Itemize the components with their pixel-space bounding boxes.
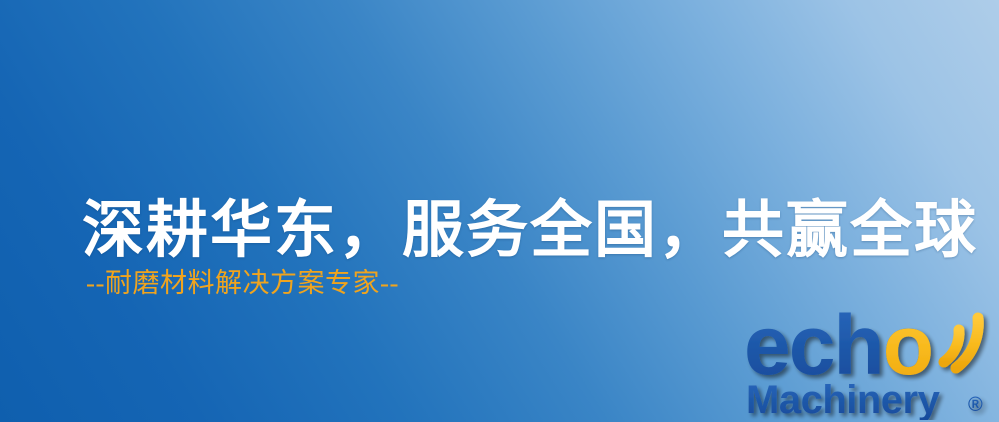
banner-subtitle: --耐磨材料解决方案专家-- xyxy=(86,267,399,299)
banner-headline: 深耕华东，服务全国，共赢全球 xyxy=(82,194,962,268)
hero-banner: 深耕华东，服务全国，共赢全球 --耐磨材料解决方案专家-- xyxy=(0,0,999,422)
echo-machinery-logo[interactable]: echo echo Machinery ® xyxy=(744,296,996,420)
registered-trademark-icon: ® xyxy=(968,394,983,416)
logo-tagline: Machinery xyxy=(746,378,941,420)
signal-arcs-icon xyxy=(944,318,978,368)
